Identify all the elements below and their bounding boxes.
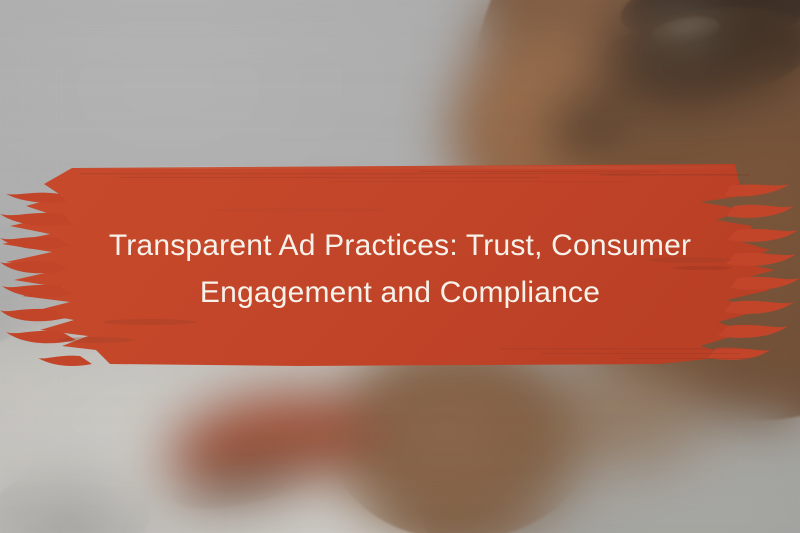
brush-stroke-shape (0, 150, 800, 380)
brush-stroke-banner (0, 150, 800, 380)
brush-body (2, 164, 775, 366)
brush-top-sheen (60, 166, 740, 169)
hero-banner-image: Transparent Ad Practices: Trust, Consume… (0, 0, 800, 533)
